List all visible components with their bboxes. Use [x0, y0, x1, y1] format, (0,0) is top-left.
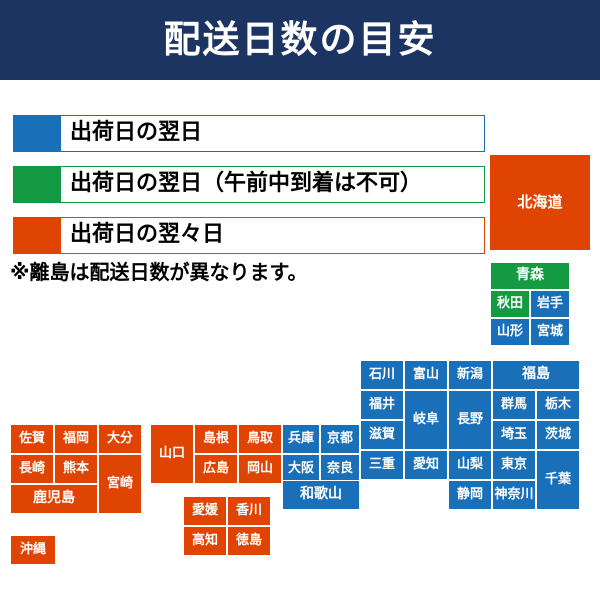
prefecture-cell: 栃木	[536, 390, 580, 420]
prefecture-cell: 山梨	[448, 450, 492, 480]
prefecture-cell: 北海道	[490, 155, 590, 250]
prefecture-cell: 岡山	[238, 454, 282, 484]
shipping-days-infographic: 配送日数の目安 出荷日の翌日出荷日の翌日（午前中到着は不可）出荷日の翌々日 ※離…	[0, 0, 600, 600]
prefecture-cell: 宮城	[530, 318, 570, 346]
prefecture-cell: 神奈川	[492, 480, 536, 510]
prefecture-cell: 群馬	[492, 390, 536, 420]
page-title: 配送日数の目安	[0, 0, 600, 80]
prefecture-cell: 岐阜	[404, 390, 448, 450]
prefecture-cell: 千葉	[536, 450, 580, 510]
prefecture-cell: 愛知	[404, 450, 448, 480]
prefecture-cell: 埼玉	[492, 420, 536, 450]
prefecture-cell: 滋賀	[360, 420, 404, 450]
prefecture-cell: 山口	[150, 424, 194, 484]
legend-item-next_day: 出荷日の翌日	[13, 115, 485, 152]
prefecture-cell: 高知	[183, 526, 227, 556]
prefecture-cell: 岩手	[530, 290, 570, 318]
prefecture-cell: 福島	[492, 360, 580, 390]
legend-item-next_day_no_morning: 出荷日の翌日（午前中到着は不可）	[13, 166, 485, 203]
prefecture-cell: 三重	[360, 450, 404, 480]
prefecture-cell: 兵庫	[282, 424, 320, 454]
prefecture-cell: 宮崎	[98, 454, 142, 514]
prefecture-cell: 島根	[194, 424, 238, 454]
prefecture-cell: 沖縄	[10, 535, 56, 565]
disclaimer-note: ※離島は配送日数が異なります。	[10, 256, 307, 285]
prefecture-cell: 東京	[492, 450, 536, 480]
legend-color-swatch	[13, 115, 61, 152]
prefecture-cell: 和歌山	[282, 480, 360, 510]
prefecture-cell: 広島	[194, 454, 238, 484]
prefecture-cell: 鹿児島	[10, 484, 98, 514]
prefecture-cell: 福井	[360, 390, 404, 420]
prefecture-cell: 富山	[404, 360, 448, 390]
legend-color-swatch	[13, 166, 61, 203]
prefecture-cell: 茨城	[536, 420, 580, 450]
prefecture-cell: 鳥取	[238, 424, 282, 454]
legend-item-two_days: 出荷日の翌々日	[13, 217, 485, 254]
prefecture-cell: 京都	[320, 424, 360, 454]
legend-item-label: 出荷日の翌日	[61, 115, 485, 152]
prefecture-cell: 佐賀	[10, 424, 54, 454]
prefecture-cell: 山形	[490, 318, 530, 346]
prefecture-cell: 大分	[98, 424, 142, 454]
prefecture-cell: 石川	[360, 360, 404, 390]
prefecture-cell: 秋田	[490, 290, 530, 318]
prefecture-cell: 長野	[448, 390, 492, 450]
prefecture-cell: 新潟	[448, 360, 492, 390]
legend-item-label: 出荷日の翌々日	[61, 217, 485, 254]
prefecture-cell: 静岡	[448, 480, 492, 510]
prefecture-cell: 愛媛	[183, 496, 227, 526]
prefecture-cell: 徳島	[227, 526, 271, 556]
prefecture-cell: 香川	[227, 496, 271, 526]
prefecture-cell: 福岡	[54, 424, 98, 454]
legend-color-swatch	[13, 217, 61, 254]
header-bar: 配送日数の目安	[0, 0, 600, 80]
prefecture-cell: 青森	[490, 262, 570, 290]
legend-item-label: 出荷日の翌日（午前中到着は不可）	[61, 166, 485, 203]
prefecture-cell: 熊本	[54, 454, 98, 484]
prefecture-cell: 長崎	[10, 454, 54, 484]
